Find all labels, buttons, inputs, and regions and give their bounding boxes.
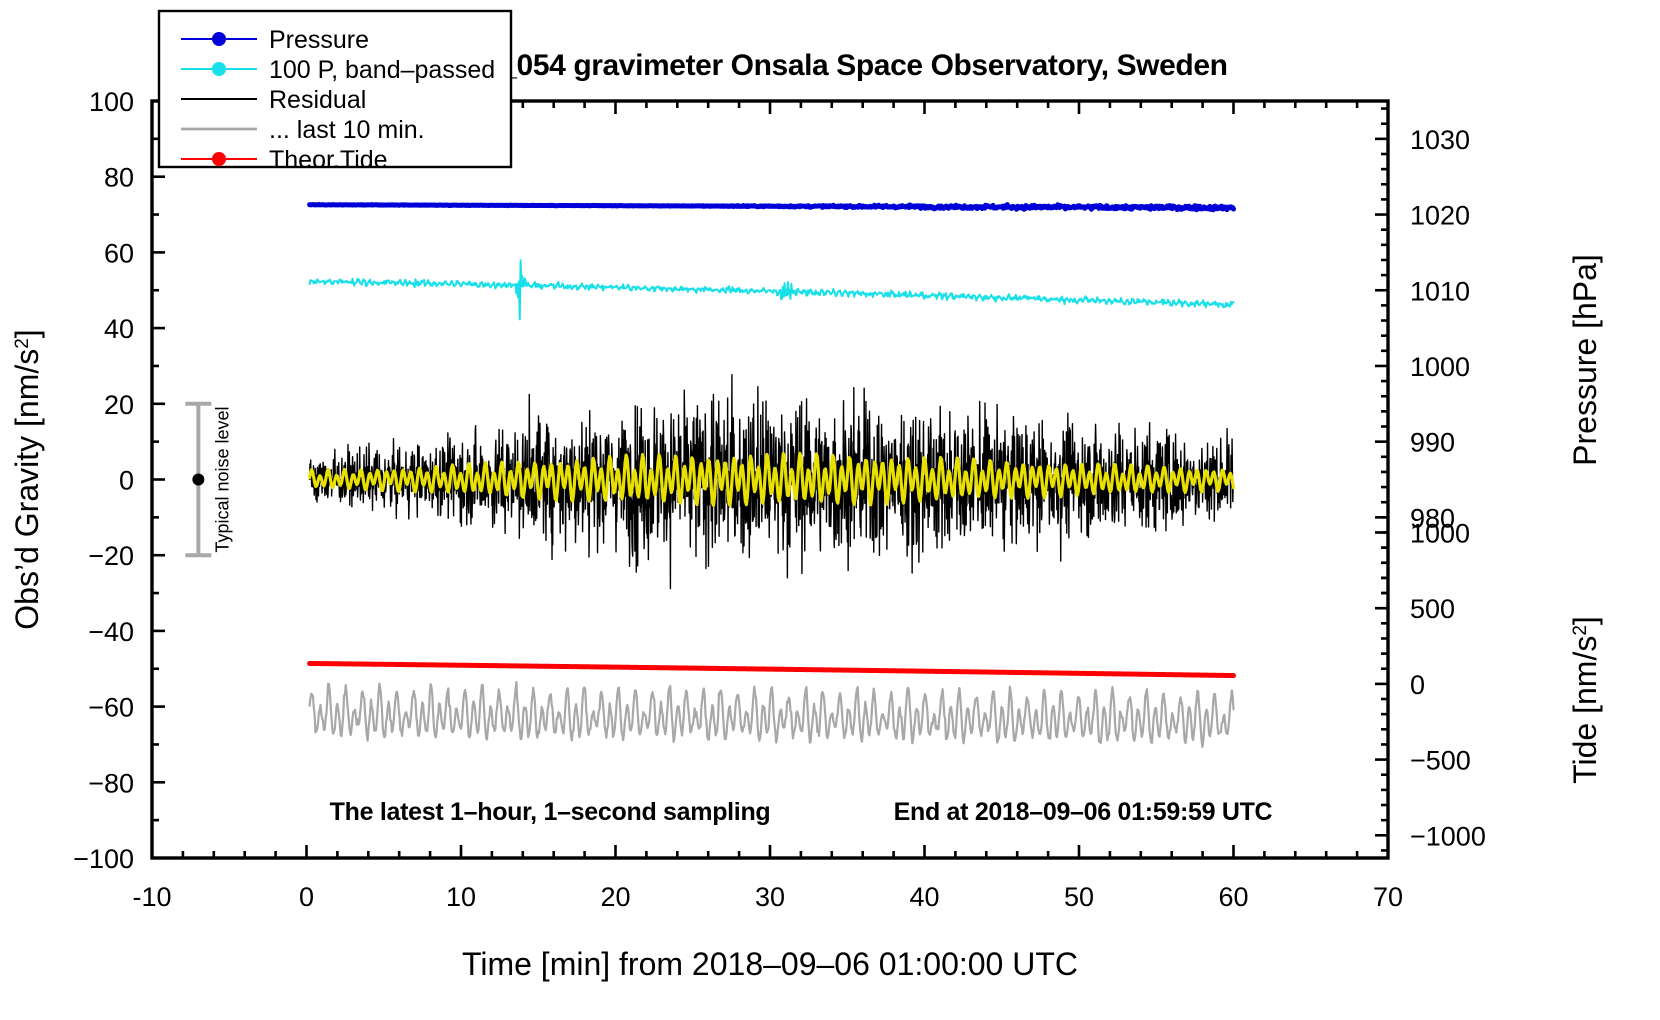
gravimeter-plot: -10010203040506070100806040200−20−40−60−…	[0, 0, 1660, 1020]
ytick-label: 100	[89, 87, 134, 117]
pressure-tick-label: 1010	[1410, 276, 1470, 306]
xtick-label: 40	[909, 882, 939, 912]
ytick-label: −60	[88, 693, 134, 723]
legend-marker-4	[212, 152, 226, 166]
series-pressure	[310, 204, 1234, 209]
tide-tick-label: 500	[1410, 594, 1455, 624]
sampling-note: The latest 1–hour, 1–second sampling	[330, 798, 771, 826]
ytick-label: −20	[88, 541, 134, 571]
legend-label-4: Theor.Tide	[269, 146, 388, 174]
ytick-label: 0	[119, 466, 134, 496]
ytick-label: −100	[73, 844, 134, 874]
pressure-tick-label: 1030	[1410, 125, 1470, 155]
ytick-label: 80	[104, 163, 134, 193]
y-axis-title-tide: Tide [nm/s2]	[1567, 616, 1603, 784]
ytick-label: −40	[88, 617, 134, 647]
chart-canvas: -10010203040506070100806040200−20−40−60−…	[0, 0, 1660, 1020]
tide-tick-label: −500	[1410, 746, 1471, 776]
xtick-label: 70	[1373, 882, 1403, 912]
ytick-label: 40	[104, 314, 134, 344]
noise-level-marker	[185, 404, 211, 555]
series-band-passed	[310, 260, 1234, 319]
noise-center-dot	[192, 474, 204, 486]
xtick-label: 10	[446, 882, 476, 912]
ytick-label: 60	[104, 238, 134, 268]
xtick-label: 20	[600, 882, 630, 912]
y-axis-title-left: Obs’d Gravity [nm/s2]	[9, 329, 45, 629]
ytick-label: −80	[88, 768, 134, 798]
y-axis-title-pressure: Pressure [hPa]	[1567, 254, 1603, 466]
tide-tick-label: 1000	[1410, 518, 1470, 548]
noise-level-label: Typical noise level	[212, 406, 232, 552]
x-axis-title: Time [min] from 2018–09–06 01:00:00 UTC	[462, 946, 1078, 982]
chart-title: SCG_054 gravimeter Onsala Space Observat…	[436, 49, 1227, 82]
tide-tick-label: −1000	[1410, 821, 1486, 851]
tide-tick-label: 0	[1410, 670, 1425, 700]
legend-label-3: ... last 10 min.	[269, 116, 425, 144]
xtick-label: 50	[1064, 882, 1094, 912]
pressure-tick-label: 990	[1410, 428, 1455, 458]
xtick-label: 30	[755, 882, 785, 912]
legend-marker-1	[212, 62, 226, 76]
series-last-10-min	[310, 682, 1234, 747]
ytick-label: 20	[104, 390, 134, 420]
pressure-tick-label: 1000	[1410, 352, 1470, 382]
pressure-tick-label: 1020	[1410, 201, 1470, 231]
legend-label-1: 100 P, band–passed	[269, 56, 495, 84]
series-theor-tide	[310, 663, 1234, 675]
legend-marker-0	[212, 32, 226, 46]
xtick-label: 0	[299, 882, 314, 912]
end-note: End at 2018–09–06 01:59:59 UTC	[894, 798, 1273, 826]
xtick-label: -10	[132, 882, 171, 912]
legend-label-2: Residual	[269, 86, 366, 114]
legend: Pressure100 P, band–passedResidual... la…	[159, 11, 511, 174]
legend-label-0: Pressure	[269, 26, 369, 54]
xtick-label: 60	[1218, 882, 1248, 912]
